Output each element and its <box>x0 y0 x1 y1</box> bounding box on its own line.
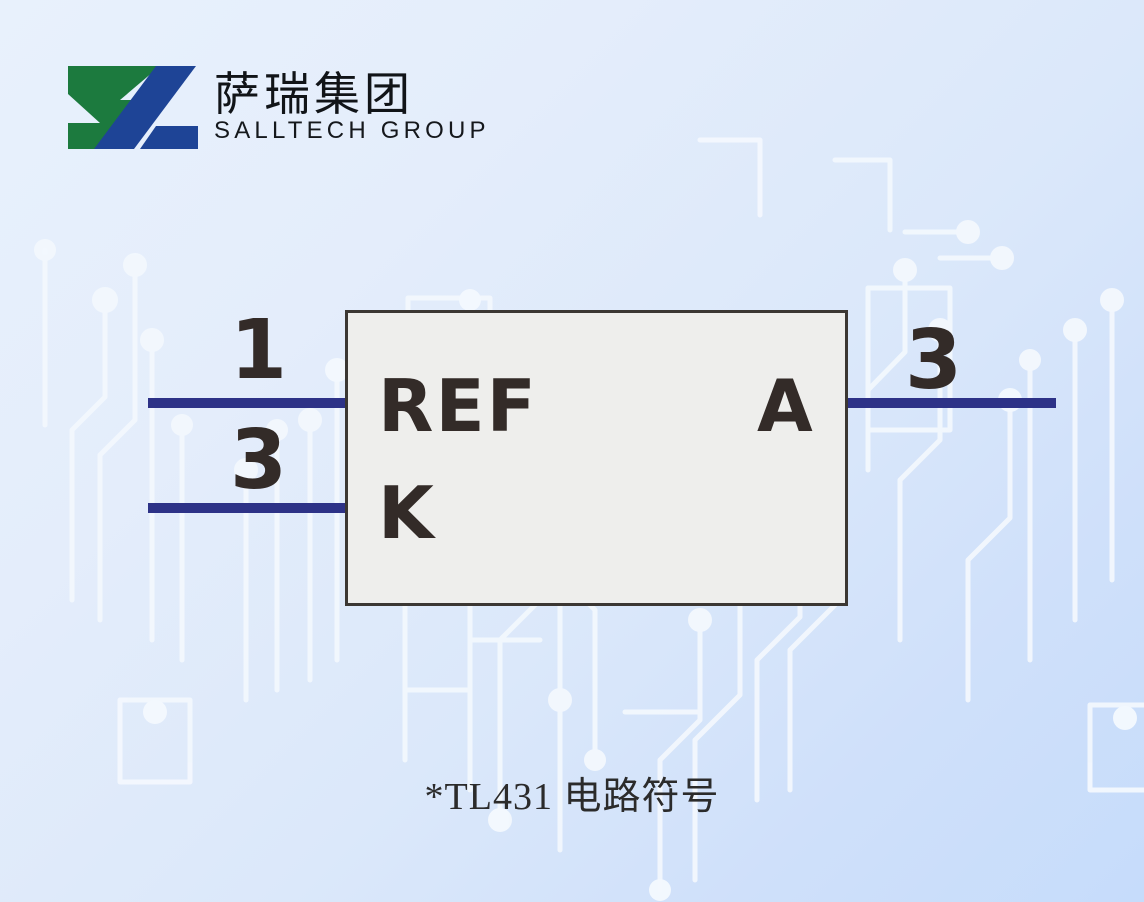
pin-number-3-right: 3 <box>905 320 962 402</box>
ic-body-box <box>345 310 848 606</box>
pin-number-1: 1 <box>230 310 287 392</box>
figure-caption: *TL431 电路符号 <box>0 765 1144 820</box>
pin-label-a: A <box>757 370 815 442</box>
pin-label-ref: REF <box>378 370 538 442</box>
slide-canvas: 萨瑞集团 SALLTECH GROUP 1 3 3 REF K A *TL431… <box>0 0 1144 902</box>
pin-label-k: K <box>378 477 436 549</box>
pin-number-3-left: 3 <box>230 420 287 502</box>
pin-wire-ref <box>148 398 353 408</box>
